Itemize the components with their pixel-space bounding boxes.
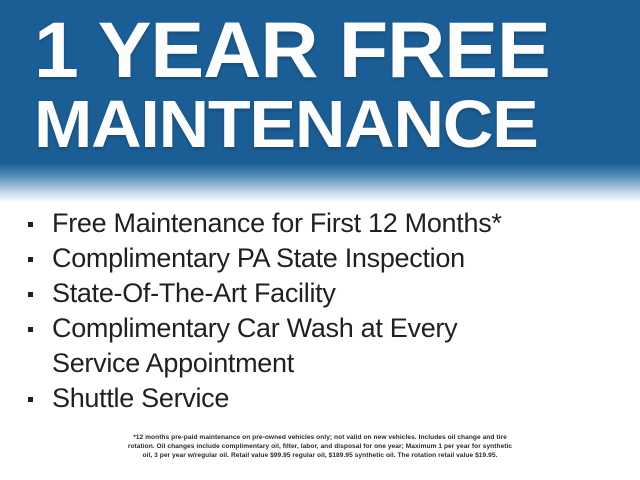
square-bullet-icon [28,397,33,402]
square-bullet-icon [28,257,33,262]
disclaimer-line-2: rotation. Oil changes include compliment… [40,442,600,451]
square-bullet-icon [28,327,33,332]
offer-list: Free Maintenance for First 12 Months* Co… [22,206,622,416]
list-item: Complimentary PA State Inspection [22,241,622,276]
headline-line-1: 1 YEAR FREE [34,8,632,92]
promotional-advertisement: 1 YEAR FREE MAINTENANCE Free Maintenance… [0,0,640,480]
banner-gradient-fade [0,163,640,203]
list-item-line: Complimentary Car Wash at Every [52,311,622,346]
headline-banner: 1 YEAR FREE MAINTENANCE [0,0,640,164]
headline-block: 1 YEAR FREE MAINTENANCE [34,8,620,158]
disclaimer-text: *12 months pre-paid maintenance on pre-o… [40,433,600,461]
disclaimer-line-3: oil, 3 per year w/regular oil. Retail va… [40,451,600,460]
list-item-label: Complimentary Car Wash at Every Service … [52,311,622,381]
square-bullet-icon [28,292,33,297]
list-item-line: Shuttle Service [52,381,622,416]
list-item-line: Complimentary PA State Inspection [52,241,622,276]
list-item-line: Free Maintenance for First 12 Months* [52,206,622,241]
list-item-line-continued: Service Appointment [52,346,622,381]
list-item-label: Shuttle Service [52,381,622,416]
list-item: State-Of-The-Art Facility [22,276,622,311]
list-item-line: State-Of-The-Art Facility [52,276,622,311]
list-item-label: Complimentary PA State Inspection [52,241,622,276]
list-item: Shuttle Service [22,381,622,416]
disclaimer-line-1: *12 months pre-paid maintenance on pre-o… [40,433,600,442]
list-item-label: State-Of-The-Art Facility [52,276,622,311]
headline-line-2: MAINTENANCE [34,92,640,158]
list-item: Free Maintenance for First 12 Months* [22,206,622,241]
square-bullet-icon [28,222,33,227]
list-item: Complimentary Car Wash at Every Service … [22,311,622,381]
list-item-label: Free Maintenance for First 12 Months* [52,206,622,241]
